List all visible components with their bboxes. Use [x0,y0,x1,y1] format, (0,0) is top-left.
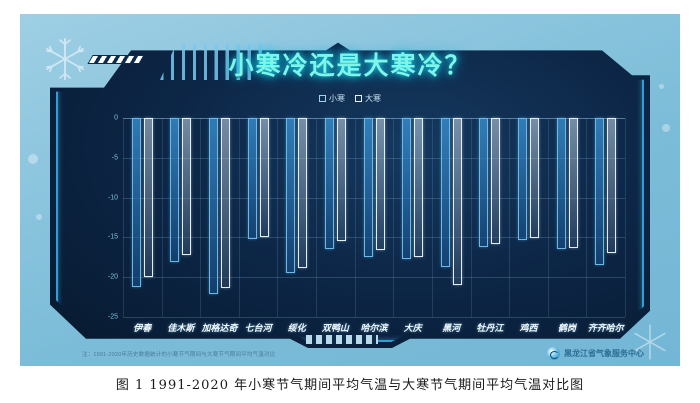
bar-dahan[interactable] [530,118,539,238]
bar-xiaohan[interactable] [325,118,334,249]
brand-logo: 黑龙江省气象服务中心 [547,347,644,360]
legend-item-xiaohan: 小寒 [319,93,345,104]
bar-xiaohan[interactable] [209,118,218,294]
legend-label: 大寒 [365,93,381,104]
legend-item-dahan: 大寒 [355,93,381,104]
x-axis-label: 佳木斯 [167,321,194,334]
x-axis-label: 绥化 [288,321,306,334]
snow-dot [662,124,670,132]
category-separator [316,118,317,317]
category-separator [200,118,201,317]
y-axis-tick-label: -25 [108,314,118,321]
x-axis-label: 双鸭山 [322,321,349,334]
poster-container: 小寒冷还是大寒冷？ 小寒 大寒 0-5-10-15-20-25伊春佳木斯加格达奇… [20,14,680,366]
page-title: 小寒冷还是大寒冷？ [20,46,680,82]
bar-xiaohan[interactable] [364,118,373,257]
plot-area: 0-5-10-15-20-25伊春佳木斯加格达奇七台河绥化双鸭山哈尔滨大庆黑河牡… [123,118,625,317]
x-axis-label: 加格达奇 [202,321,238,334]
bar-xiaohan[interactable] [518,118,527,240]
bar-xiaohan[interactable] [479,118,488,247]
category-separator [471,118,472,317]
bar-xiaohan[interactable] [170,118,179,262]
bar-xiaohan[interactable] [132,118,141,287]
snow-dot [28,154,38,164]
y-axis-tick-label: 0 [114,115,118,122]
bar-dahan[interactable] [453,118,462,285]
x-axis-label: 鹤岗 [558,321,576,334]
bar-xiaohan[interactable] [595,118,604,265]
x-axis-label: 牡丹江 [476,321,503,334]
gridline [123,198,625,199]
x-axis-label: 大庆 [404,321,422,334]
category-separator [548,118,549,317]
bar-dahan[interactable] [414,118,423,257]
bar-dahan[interactable] [337,118,346,241]
x-axis-label: 哈尔滨 [360,321,387,334]
x-axis-label: 黑河 [442,321,460,334]
bar-dahan[interactable] [569,118,578,248]
legend-label: 小寒 [329,93,345,104]
x-axis-label: 齐齐哈尔 [588,321,624,334]
gridline [123,237,625,238]
x-axis-label: 鸡西 [519,321,537,334]
bar-xiaohan[interactable] [557,118,566,249]
category-separator [432,118,433,317]
category-separator [123,118,124,317]
gridline [123,118,625,119]
category-separator [509,118,510,317]
bar-xiaohan[interactable] [441,118,450,267]
x-axis-label: 伊春 [133,321,151,334]
bar-dahan[interactable] [607,118,616,253]
y-axis-tick-label: -10 [108,194,118,201]
category-separator [393,118,394,317]
bar-xiaohan[interactable] [248,118,257,239]
bar-dahan[interactable] [221,118,230,288]
category-separator [586,118,587,317]
y-axis-tick-label: -20 [108,274,118,281]
gridline [123,277,625,278]
y-axis-tick-label: -15 [108,234,118,241]
bar-dahan[interactable] [144,118,153,277]
bar-dahan[interactable] [182,118,191,255]
category-separator [162,118,163,317]
category-separator [355,118,356,317]
bar-xiaohan[interactable] [286,118,295,273]
snow-dot [36,214,42,220]
gridline [123,317,625,318]
bar-dahan[interactable] [298,118,307,268]
weather-service-logo-icon [547,347,560,360]
category-separator [625,118,626,317]
legend-swatch-icon [319,95,326,102]
brand-name: 黑龙江省气象服务中心 [564,348,644,359]
x-axis-label: 七台河 [245,321,272,334]
category-separator [277,118,278,317]
footnote: 注：1991-2020年历史数据统计的小寒节气期间与大寒节气期间平均气温对比 [82,350,275,358]
dash-decoration-bottom [306,335,378,344]
gridline [123,158,625,159]
bar-xiaohan[interactable] [402,118,411,259]
bar-dahan[interactable] [260,118,269,237]
bar-dahan[interactable] [376,118,385,250]
snow-dot [659,84,664,89]
y-axis-tick-label: -5 [112,154,118,161]
category-separator [239,118,240,317]
legend-swatch-icon [355,95,362,102]
figure-caption: 图 1 1991-2020 年小寒节气期间平均气温与大寒节气期间平均气温对比图 [0,374,700,393]
chart-legend: 小寒 大寒 [20,93,680,104]
bar-dahan[interactable] [491,118,500,244]
